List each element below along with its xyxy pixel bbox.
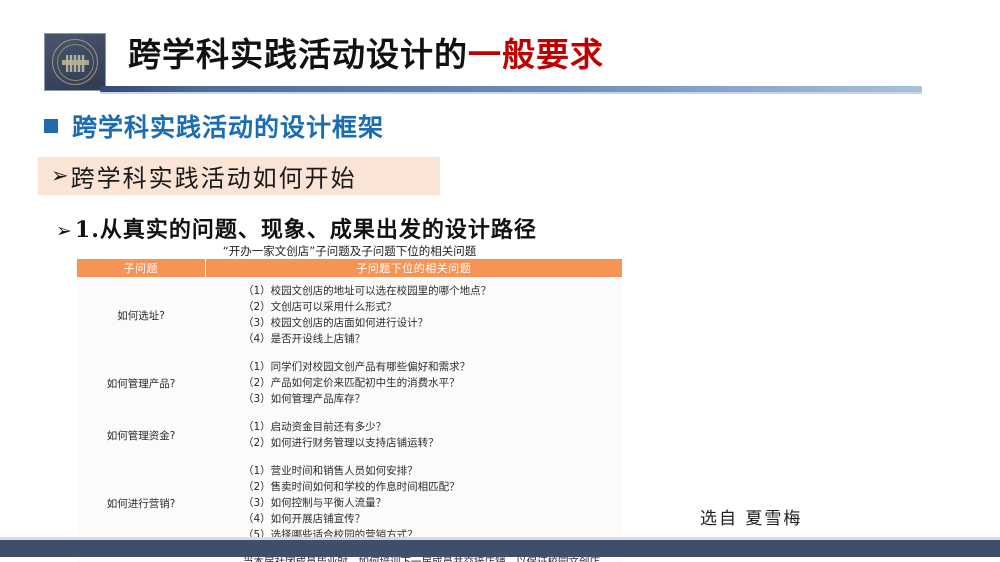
sub-question-line: （4）如何开展店铺宣传？ [243,511,622,527]
square-bullet-icon [44,119,58,133]
column-header-question: 子问题 [77,259,205,277]
table-header-row: 子问题 子问题下位的相关问题 [77,259,622,277]
design-path-heading-label: 1.从真实的问题、现象、成果出发的设计路径 [75,212,537,244]
sub-question-line: （3）如何控制与平衡人流量？ [243,495,622,511]
table-cell-subquestions: （1）同学们对校园文创产品有哪些偏好和需求？（2）产品如何定价来匹配初中生的消费… [205,353,622,413]
sub-question-table: 子问题 子问题下位的相关问题 如何选址?（1）校园文创店的地址可以选在校园里的哪… [77,259,622,562]
table-row: 如何选址?（1）校园文创店的地址可以选在校园里的哪个地点？（2）文创店可以采用什… [77,277,622,353]
sub-question-line: （1）营业时间和销售人员如何安排？ [243,463,622,479]
design-path-heading: ➢ 1.从真实的问题、现象、成果出发的设计路径 [56,212,537,244]
column-header-subquestions: 子问题下位的相关问题 [205,259,622,277]
slide-canvas: 跨学科实践活动设计的一般要求 跨学科实践活动的设计框架 ➢ 跨学科实践活动如何开… [0,0,1000,562]
framework-heading-label: 跨学科实践活动的设计框架 [72,108,384,144]
page-title-accent: 一般要求 [468,35,604,74]
start-question-band: ➢ 跨学科实践活动如何开始 [38,157,440,195]
emblem-crest-band [62,60,89,65]
table-cell-question: 如何进行营销? [77,457,205,549]
start-question-band-inner: ➢ 跨学科实践活动如何开始 [51,159,357,194]
sub-question-line: （1）启动资金目前还有多少？ [243,419,622,435]
table-cell-question: 如何选址? [77,277,205,353]
school-emblem-logo [44,33,106,91]
sub-question-line: （3）校园文创店的店面如何进行设计？ [243,315,622,331]
table-body: 如何选址?（1）校园文创店的地址可以选在校园里的哪个地点？（2）文创店可以采用什… [77,277,622,562]
table-header: 子问题 子问题下位的相关问题 [77,259,622,277]
table-cell-subquestions: （1）校园文创店的地址可以选在校园里的哪个地点？（2）文创店可以采用什么形式？（… [205,277,622,353]
page-title-main: 跨学科实践活动设计的 [128,35,468,74]
table-cell-question: 如何管理资金? [77,413,205,457]
sub-question-line: （2）如何进行财务管理以支持店铺运转？ [243,435,622,451]
table-row: 如何管理产品?（1）同学们对校园文创产品有哪些偏好和需求？（2）产品如何定价来匹… [77,353,622,413]
table-cell-subquestions: （1）营业时间和销售人员如何安排？（2）售卖时间如何和学校的作息时间相匹配？（3… [205,457,622,549]
framework-heading: 跨学科实践活动的设计框架 [44,108,384,144]
sub-question-line: （1）校园文创店的地址可以选在校园里的哪个地点？ [243,283,622,299]
sub-question-line: （3）如何管理产品库存？ [243,391,622,407]
table-cell-subquestions: （1）启动资金目前还有多少？（2）如何进行财务管理以支持店铺运转？ [205,413,622,457]
sub-question-line: （1）同学们对校园文创产品有哪些偏好和需求？ [243,359,622,375]
start-question-label: 跨学科实践活动如何开始 [71,159,357,194]
title-divider-shadow [100,92,922,94]
page-title: 跨学科实践活动设计的一般要求 [128,33,604,77]
sub-question-line: （4）是否开设线上店铺？ [243,331,622,347]
sub-question-line: （2）售卖时间如何和学校的作息时间相匹配？ [243,479,622,495]
sub-question-line: （2）文创店可以采用什么形式？ [243,299,622,315]
source-attribution: 选自 夏雪梅 [700,504,802,529]
table-row: 如何进行营销?（1）营业时间和销售人员如何安排？（2）售卖时间如何和学校的作息时… [77,457,622,549]
footer-bar [0,540,1000,557]
arrow-bullet-icon-2: ➢ [56,222,72,241]
arrow-bullet-icon: ➢ [51,166,69,187]
table-cell-question: 如何管理产品? [77,353,205,413]
sub-question-line: （2）产品如何定价来匹配初中生的消费水平？ [243,375,622,391]
table-row: 如何管理资金?（1）启动资金目前还有多少？（2）如何进行财务管理以支持店铺运转？ [77,413,622,457]
table-caption: “开办一家文创店”子问题及子问题下位的相关问题 [77,243,622,259]
